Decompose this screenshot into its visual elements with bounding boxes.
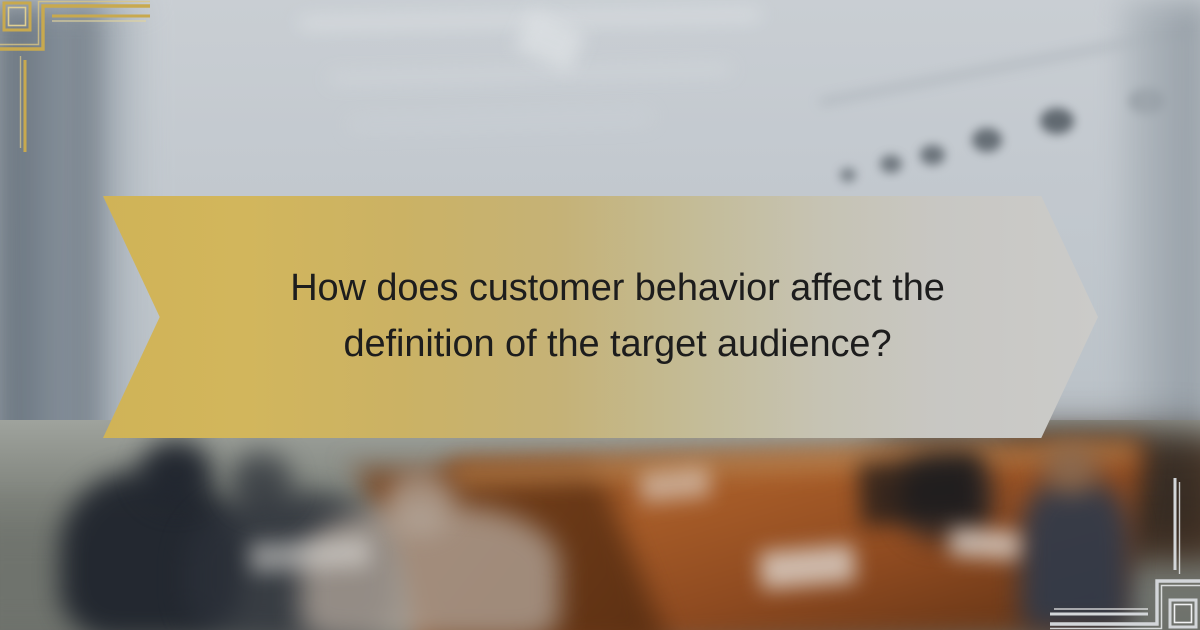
- pendant-light-1: [840, 168, 856, 182]
- page-title-line-1: How does customer behavior affect the: [253, 261, 983, 317]
- background-window-left: [0, 0, 140, 470]
- pendant-light-2: [880, 155, 902, 173]
- laptop-on-table: [858, 456, 982, 526]
- share-card-canvas: How does customer behavior affect the de…: [0, 0, 1200, 630]
- pendant-light-3: [920, 145, 945, 165]
- person-head-center: [385, 470, 455, 534]
- person-head-right: [1044, 442, 1098, 494]
- paper-document-3: [249, 537, 370, 573]
- person-head-left-2: [230, 452, 292, 510]
- background-right-wall: [1120, 0, 1200, 470]
- person-silhouette-right: [1020, 478, 1130, 630]
- window-mullion: [78, 0, 94, 470]
- page-title-line-2: definition of the target audience?: [253, 317, 983, 373]
- title-banner: How does customer behavior affect the de…: [103, 196, 1098, 438]
- person-head-left-1: [140, 440, 212, 506]
- paper-document-2: [949, 528, 1021, 561]
- pendant-light-5: [1040, 108, 1074, 134]
- pendant-light-4: [972, 128, 1002, 152]
- title-banner-content: How does customer behavior affect the de…: [253, 261, 983, 373]
